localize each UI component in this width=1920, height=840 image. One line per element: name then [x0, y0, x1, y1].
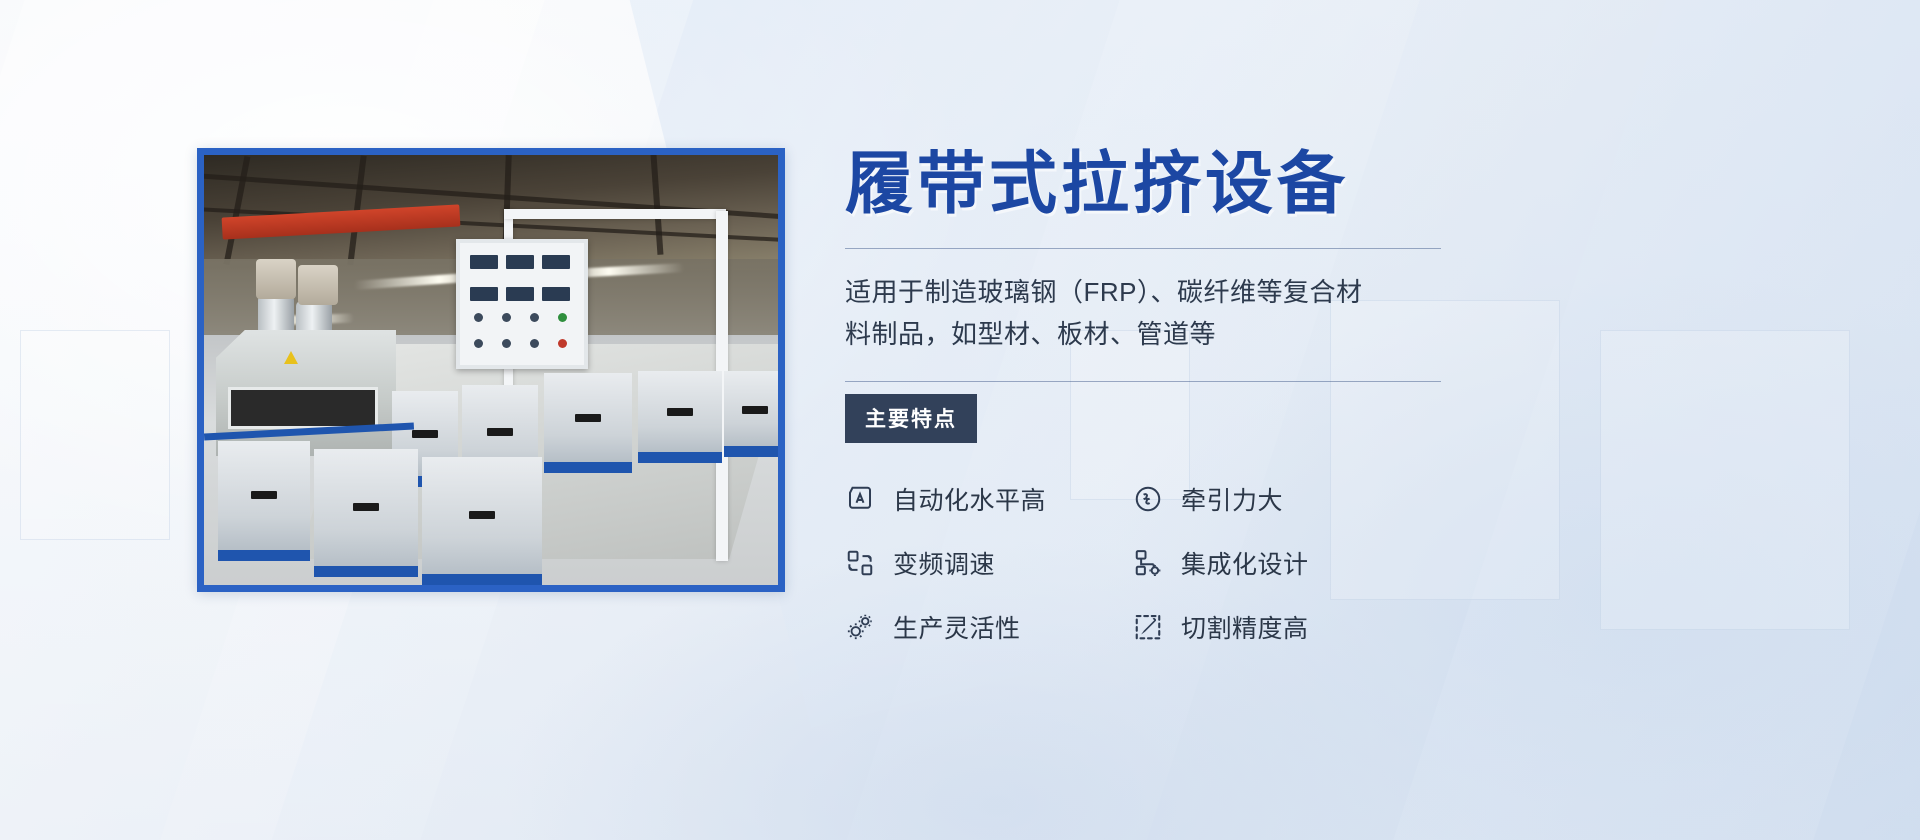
- divider-top: [845, 248, 1441, 249]
- badge-wrapper: 主要特点: [845, 394, 1465, 443]
- product-photo-card[interactable]: [197, 148, 785, 592]
- photo-cabinet: [638, 371, 722, 463]
- feature-label: 切割精度高: [1181, 609, 1309, 645]
- feature-item-flexibility[interactable]: 生产灵活性: [845, 609, 1133, 645]
- banner-content: 履带式拉挤设备 适用于制造玻璃钢（FRP）、碳纤维等复合材 料制品，如型材、板材…: [845, 150, 1465, 645]
- photo-cabinet: [422, 457, 542, 585]
- page-title: 履带式拉挤设备: [845, 150, 1465, 218]
- auto-level-icon: [845, 484, 875, 514]
- subtitle: 适用于制造玻璃钢（FRP）、碳纤维等复合材 料制品，如型材、板材、管道等: [845, 271, 1445, 355]
- photo-cabinet: [218, 441, 310, 561]
- product-banner: 履带式拉挤设备 适用于制造玻璃钢（FRP）、碳纤维等复合材 料制品，如型材、板材…: [0, 0, 1920, 840]
- background-ghost-shape: [1600, 330, 1850, 630]
- subtitle-line-1: 适用于制造玻璃钢（FRP）、碳纤维等复合材: [845, 271, 1445, 313]
- photo-cabinet: [724, 371, 785, 457]
- photo-cabinet: [544, 373, 632, 473]
- feature-label: 自动化水平高: [893, 481, 1046, 517]
- photo-drum: [298, 265, 338, 305]
- frequency-icon: [845, 548, 875, 578]
- feature-item-traction[interactable]: 牵引力大: [1133, 481, 1421, 517]
- photo-gantry-beam: [504, 209, 726, 219]
- feature-item-automation[interactable]: 自动化水平高: [845, 481, 1133, 517]
- main-features-badge: 主要特点: [845, 394, 977, 443]
- feature-list: 自动化水平高 牵引力大: [845, 481, 1465, 645]
- feature-item-integration[interactable]: 集成化设计: [1133, 545, 1421, 581]
- divider-bottom: [845, 381, 1441, 382]
- subtitle-line-2: 料制品，如型材、板材、管道等: [845, 313, 1445, 355]
- feature-item-cut-precision[interactable]: 切割精度高: [1133, 609, 1421, 645]
- feature-label: 集成化设计: [1181, 545, 1309, 581]
- photo-drum: [256, 259, 296, 299]
- cut-precision-icon: [1133, 612, 1163, 642]
- gears-icon: [845, 612, 875, 642]
- feature-label: 牵引力大: [1181, 481, 1283, 517]
- feature-label: 变频调速: [893, 545, 995, 581]
- product-photo: [204, 155, 778, 585]
- background-ghost-shape: [20, 330, 170, 540]
- feature-label: 生产灵活性: [893, 609, 1021, 645]
- traction-icon: [1133, 484, 1163, 514]
- integration-icon: [1133, 548, 1163, 578]
- photo-press-window: [228, 387, 378, 429]
- photo-control-panel: [456, 239, 588, 369]
- photo-cabinet: [314, 449, 418, 577]
- feature-item-frequency[interactable]: 变频调速: [845, 545, 1133, 581]
